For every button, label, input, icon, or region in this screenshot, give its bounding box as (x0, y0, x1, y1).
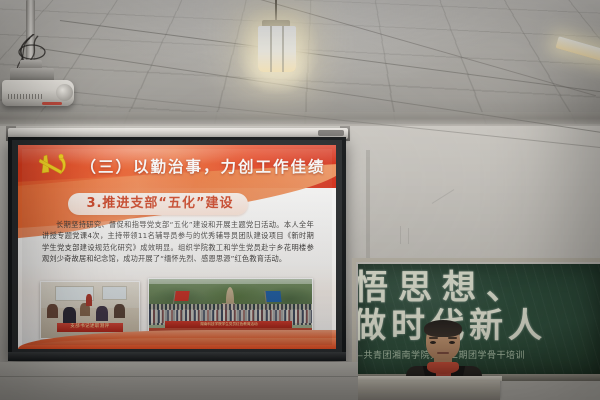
photo-banner-text: 支部书记述职测评 (57, 323, 124, 331)
slide-photo-branch-secretary-review: 支部书记述职测评 (40, 281, 140, 339)
lamp-stem (275, 0, 277, 22)
wainscot-trim-line (0, 376, 358, 377)
suspended-ceiling (0, 0, 600, 124)
presenter-collar (427, 362, 459, 374)
photo-person (86, 294, 92, 306)
screen-bottom-weight-bar (8, 352, 346, 361)
projector-vent (8, 94, 42, 99)
wall-scuff (400, 226, 401, 244)
photo-school-flag (266, 291, 282, 302)
projector-lens-icon (56, 84, 73, 101)
lectern-top-surface (350, 376, 502, 381)
lectern (352, 378, 500, 400)
presenter-brow (448, 337, 457, 339)
slide-title: （三）以勤治事，力创工作佳绩 (78, 153, 328, 181)
ccp-hammer-sickle-emblem-icon (36, 151, 70, 183)
projection-screen[interactable]: （三）以勤治事，力创工作佳绩 3.推进支部“五化”建设 长期坚持研究、督促和指导… (8, 137, 346, 359)
photo-party-flag (174, 291, 189, 301)
fluorescent-lamp-icon (258, 26, 296, 72)
photo-person (47, 304, 58, 318)
photo-person (96, 306, 108, 321)
photo-person (114, 304, 125, 318)
screen-roller-endcap (318, 130, 344, 136)
presenter-eye (449, 341, 455, 344)
projector-indicator (42, 102, 62, 105)
presenter-brow (429, 337, 438, 339)
presenter-mouth (437, 352, 449, 354)
lower-wall-panel (0, 362, 358, 400)
presenter-hair (424, 320, 462, 337)
wall-scuff (408, 228, 409, 244)
wall-pipe (366, 150, 370, 258)
slide-body-text: 长期坚持研究、督促和指导党支部“五化”建设和开展主题党日活动。本人全年讲授专题党… (42, 219, 314, 265)
ceiling-shading (0, 0, 600, 124)
photo-window (102, 286, 127, 299)
presenter-eye (430, 341, 436, 344)
photo-person (63, 307, 76, 323)
screen-surface: （三）以勤治事，力创工作佳绩 3.推进支部“五化”建设 长期坚持研究、督促和指导… (18, 145, 336, 349)
classroom-photo-scene: （三）以勤治事，力创工作佳绩 3.推进支部“五化”建设 长期坚持研究、督促和指导… (0, 0, 600, 400)
presentation-slide: （三）以勤治事，力创工作佳绩 3.推进支部“五化”建设 长期坚持研究、督促和指导… (18, 145, 336, 349)
slide-subtitle: 3.推进支部“五化”建设 (70, 193, 250, 215)
